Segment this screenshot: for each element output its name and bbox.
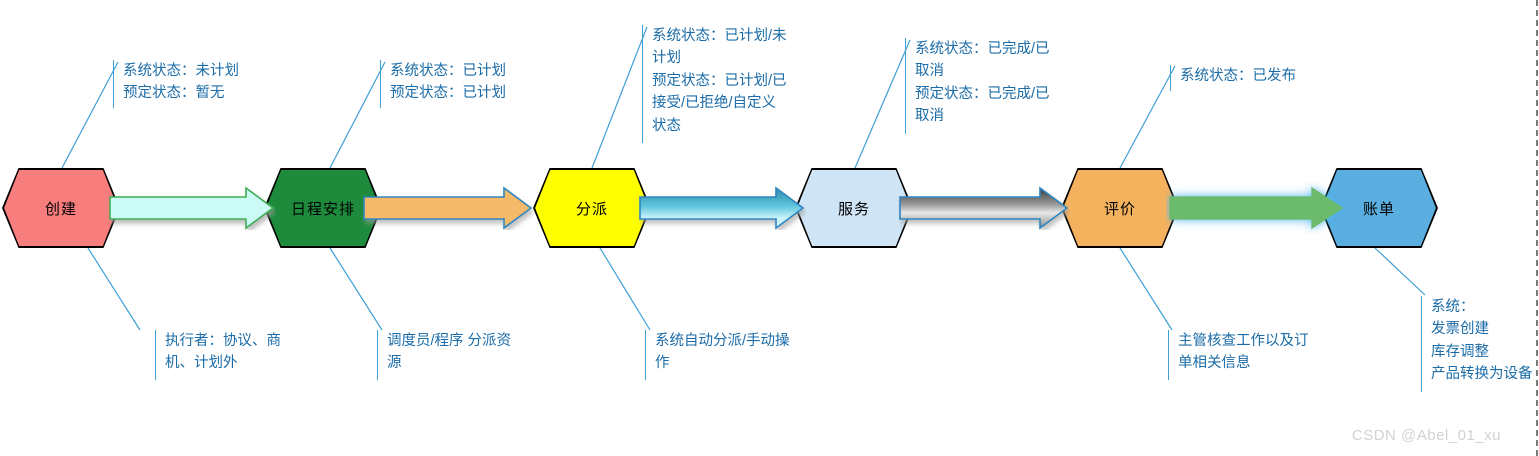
- annotation-schedule-status: 系统状态：已计划 预定状态：已计划: [380, 60, 560, 108]
- annotation-create-status: 系统状态：未计划 预定状态：暂无: [113, 60, 293, 108]
- leader-line-dispatch-status: [592, 27, 647, 168]
- annotation-dispatch-actor: 系统自动分派/手动操 作: [645, 330, 820, 380]
- arrow-service-to-review: [898, 186, 1070, 230]
- node-bill-label: 账单: [1363, 198, 1395, 219]
- node-service[interactable]: 服务: [795, 168, 913, 248]
- annotation-bill-actor: 系统： 发票创建 库存调整 产品转换为设备: [1421, 296, 1539, 392]
- diagram-canvas: 创建 日程安排 分派 服务 评价 账单 系统状态：未: [0, 0, 1539, 456]
- arrow-review-to-bill: [1166, 182, 1348, 234]
- arrow-dispatch-to-service: [638, 186, 806, 230]
- node-dispatch[interactable]: 分派: [533, 168, 651, 248]
- node-dispatch-label: 分派: [576, 198, 608, 219]
- arrow-schedule-to-dispatch: [362, 186, 534, 230]
- node-create[interactable]: 创建: [2, 168, 120, 248]
- node-review-label: 评价: [1104, 198, 1136, 219]
- annotation-schedule-actor: 调度员/程序 分派资 源: [377, 330, 542, 380]
- arrow-create-to-schedule: [108, 186, 276, 230]
- leader-line-schedule-actor: [330, 248, 382, 330]
- annotation-review-actor: 主管核查工作以及订 单相关信息: [1168, 330, 1343, 380]
- leader-line-create-actor: [88, 248, 140, 330]
- annotation-review-status: 系统状态：已发布: [1170, 65, 1350, 91]
- node-create-label: 创建: [45, 198, 77, 219]
- leader-line-bill-actor: [1375, 248, 1425, 295]
- leader-line-review-status: [1120, 66, 1175, 168]
- node-review[interactable]: 评价: [1061, 168, 1179, 248]
- node-service-label: 服务: [838, 198, 870, 219]
- watermark: CSDN @Abel_01_xu: [1352, 427, 1501, 444]
- leader-line-review-actor: [1120, 248, 1172, 330]
- leader-line-service-status: [855, 40, 910, 168]
- annotation-dispatch-status: 系统状态：已计划/未 计划 预定状态：已计划/已 接受/已拒绝/自定义 状态: [642, 25, 822, 143]
- node-schedule-label: 日程安排: [291, 198, 355, 219]
- canvas-right-edge: [1536, 0, 1538, 456]
- leader-line-create-status: [62, 62, 118, 168]
- annotation-service-status: 系统状态：已完成/已 取消 预定状态：已完成/已 取消: [905, 38, 1085, 134]
- annotation-create-actor: 执行者：协议、商 机、计划外: [155, 330, 300, 380]
- leader-line-schedule-status: [330, 62, 385, 168]
- leader-line-dispatch-actor: [600, 248, 650, 330]
